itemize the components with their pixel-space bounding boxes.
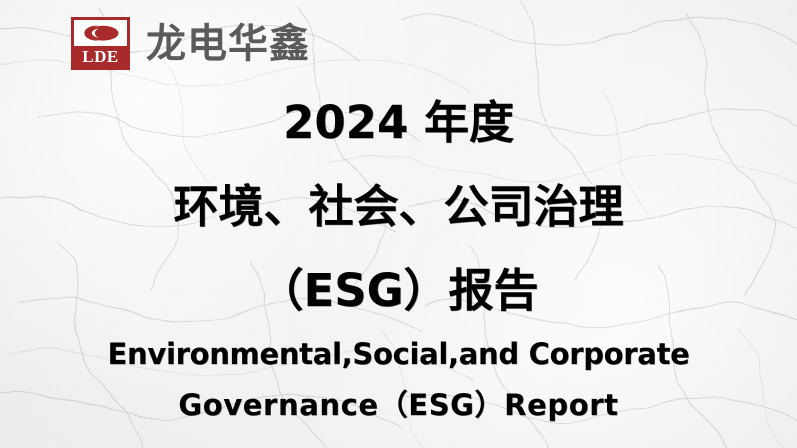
cover-title-block: 2024 年度 环境、社会、公司治理 （ESG）报告 — [0, 92, 797, 322]
brand-name-chinese: 龙电华鑫 — [146, 24, 310, 64]
subtitle-line-one: Environmental,Social,and Corporate — [0, 333, 797, 375]
lde-dragon-ellipse-icon — [74, 20, 127, 46]
title-line-esg-chinese: 环境、社会、公司治理 — [0, 176, 797, 238]
lde-logo-mark: LDE — [71, 17, 130, 70]
title-line-year: 2024 年度 — [0, 92, 797, 154]
report-cover-slide: LDE 龙电华鑫 2024 年度 环境、社会、公司治理 （ESG）报告 Envi… — [0, 0, 797, 448]
title-line-report-chinese: （ESG）报告 — [0, 260, 797, 322]
subtitle-line-two: Governance（ESG）Report — [0, 384, 797, 426]
company-logo-lockup: LDE 龙电华鑫 — [71, 17, 310, 70]
cover-subtitle-block: Environmental,Social,and Corporate Gover… — [0, 333, 797, 426]
lde-abbreviation-text: LDE — [74, 46, 127, 67]
